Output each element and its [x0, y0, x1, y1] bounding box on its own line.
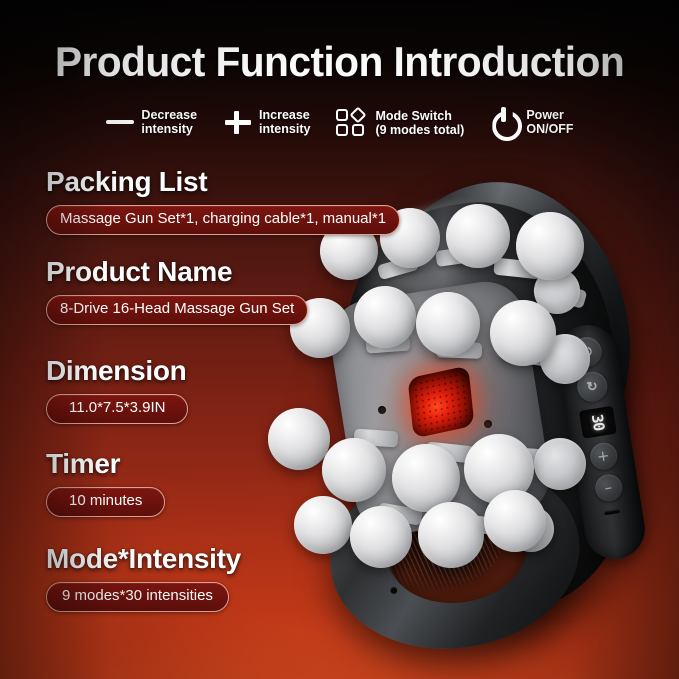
- spec-label: Timer: [46, 450, 165, 478]
- massage-node: [322, 438, 386, 502]
- plate-hole: [378, 406, 386, 414]
- spec-value-pill: 9 modes*30 intensities: [46, 582, 229, 612]
- spec-value-pill: 11.0*7.5*3.9IN: [46, 394, 188, 424]
- massage-node: [516, 212, 584, 280]
- massage-node: [490, 300, 556, 366]
- spec-timer: Timer 10 minutes: [46, 450, 165, 517]
- spec-dimension: Dimension 11.0*7.5*3.9IN: [46, 357, 188, 424]
- spec-value-pill: Massage Gun Set*1, charging cable*1, man…: [46, 205, 400, 235]
- product-infographic-poster: ⏻ ↻ 30 ＋ −: [0, 0, 679, 679]
- drive-hub: [534, 438, 586, 490]
- legend-item-increase: Increase intensity: [223, 107, 310, 137]
- massage-gun-product-image: ⏻ ↻ 30 ＋ −: [258, 176, 678, 646]
- legend-label-increase: Increase intensity: [259, 108, 310, 136]
- massage-node: [416, 292, 480, 356]
- spec-label: Product Name: [46, 258, 308, 286]
- spec-label: Mode*Intensity: [46, 545, 241, 573]
- spec-label: Packing List: [46, 168, 400, 196]
- massage-node: [354, 286, 416, 348]
- spec-mode-intensity: Mode*Intensity 9 modes*30 intensities: [46, 545, 241, 612]
- legend-label-mode-switch: Mode Switch (9 modes total): [375, 109, 464, 137]
- page-title: Product Function Introduction: [10, 38, 669, 86]
- spec-label: Dimension: [46, 357, 188, 385]
- massage-node: [418, 502, 484, 568]
- mode-switch-icon: [336, 107, 369, 138]
- spec-value-pill: 8-Drive 16-Head Massage Gun Set: [46, 295, 308, 325]
- control-legend-row: Decrease intensity Increase intensity Mo…: [0, 107, 679, 138]
- minus-icon: [105, 107, 135, 137]
- legend-label-decrease: Decrease intensity: [141, 108, 197, 136]
- spec-value-pill: 10 minutes: [46, 487, 165, 517]
- spec-packing-list: Packing List Massage Gun Set*1, charging…: [46, 168, 400, 235]
- massage-node: [484, 490, 546, 552]
- legend-item-decrease: Decrease intensity: [105, 107, 197, 137]
- legend-label-power: Power ON/OFF: [526, 108, 573, 136]
- legend-item-mode-switch: Mode Switch (9 modes total): [336, 107, 464, 138]
- massage-node: [268, 408, 330, 470]
- massage-node: [294, 496, 352, 554]
- massage-head-cluster: [258, 176, 678, 646]
- power-icon: [490, 107, 520, 137]
- legend-item-power: Power ON/OFF: [490, 107, 573, 137]
- spec-product-name: Product Name 8-Drive 16-Head Massage Gun…: [46, 258, 308, 325]
- red-light-therapy-panel: [408, 366, 475, 439]
- massage-node: [350, 506, 412, 568]
- massage-node: [446, 204, 510, 268]
- plus-icon: [223, 107, 253, 137]
